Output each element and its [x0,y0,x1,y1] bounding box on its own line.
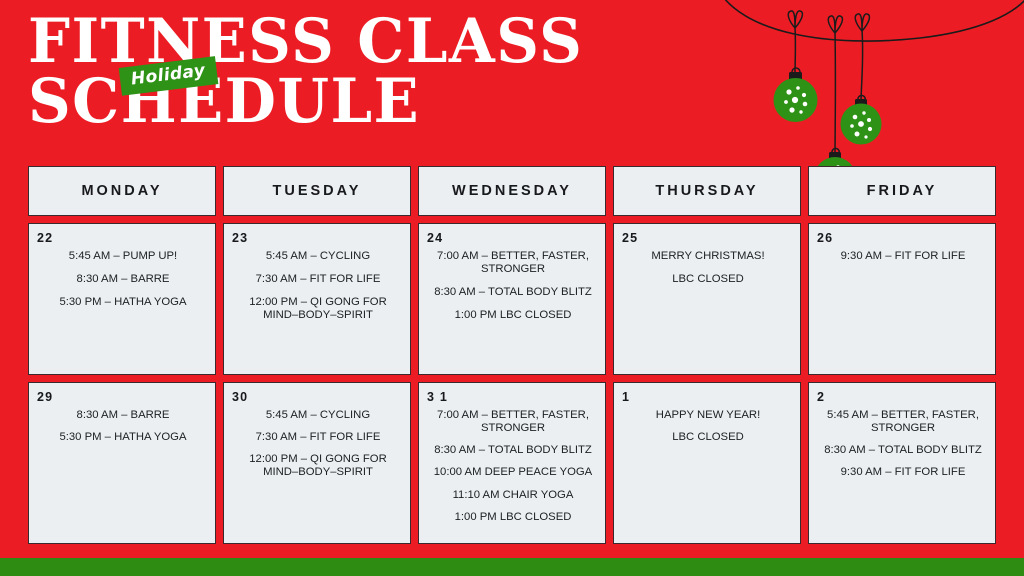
christmas-ornament-1-icon [774,68,818,122]
class-entry-list: 5:45 AM – PUMP UP! 8:30 AM – BARRE 5:30 … [37,247,209,369]
class-entry-list: 7:00 AM – BETTER, FASTER, STRONGER 8:30 … [427,406,599,538]
class-entry: 8:30 AM – BARRE [37,409,209,422]
class-entry: 8:30 AM – TOTAL BODY BLITZ [817,444,989,457]
class-entry-list: MERRY CHRISTMAS! LBC CLOSED [622,247,794,369]
footer-green-bar [0,558,1024,576]
class-entry: 12:00 PM – QI GONG FOR MIND–BODY–SPIRIT [232,296,404,323]
day-cell[interactable]: 23 5:45 AM – CYCLING 7:30 AM – FIT FOR L… [223,223,411,375]
day-header-tuesday: TUESDAY [223,166,411,216]
class-entry: HAPPY NEW YEAR! [622,409,794,422]
day-number: 1 [622,391,794,404]
class-entry: MERRY CHRISTMAS! [622,250,794,263]
class-entry: 7:00 AM – BETTER, FASTER, STRONGER [427,409,599,436]
class-entry-list: 5:45 AM – BETTER, FASTER, STRONGER 8:30 … [817,406,989,538]
day-header-label: FRIDAY [867,183,938,199]
day-cell[interactable]: 24 7:00 AM – BETTER, FASTER, STRONGER 8:… [418,223,606,375]
class-entry: 5:30 PM – HATHA YOGA [37,296,209,309]
day-number: 22 [37,232,209,245]
calendar-grid: MONDAY TUESDAY WEDNESDAY THURSDAY FRIDAY… [28,166,996,544]
day-cell[interactable]: 25 MERRY CHRISTMAS! LBC CLOSED [613,223,801,375]
calendar-week-row: 22 5:45 AM – PUMP UP! 8:30 AM – BARRE 5:… [28,223,996,375]
class-entry: 10:00 AM DEEP PEACE YOGA [427,466,599,479]
class-entry: 9:30 AM – FIT FOR LIFE [817,250,989,263]
class-entry: 5:45 AM – CYCLING [232,409,404,422]
class-entry-list: 5:45 AM – CYCLING 7:30 AM – FIT FOR LIFE… [232,247,404,369]
class-entry: 5:45 AM – PUMP UP! [37,250,209,263]
class-entry-list: HAPPY NEW YEAR! LBC CLOSED [622,406,794,538]
day-cell[interactable]: 22 5:45 AM – PUMP UP! 8:30 AM – BARRE 5:… [28,223,216,375]
day-cell[interactable]: 26 9:30 AM – FIT FOR LIFE [808,223,996,375]
class-entry: 11:10 AM CHAIR YOGA [427,489,599,502]
class-entry: 7:30 AM – FIT FOR LIFE [232,273,404,286]
day-cell[interactable]: 29 8:30 AM – BARRE 5:30 PM – HATHA YOGA [28,382,216,544]
day-number: 23 [232,232,404,245]
christmas-ornament-2-icon [841,95,882,144]
class-entry-list: 7:00 AM – BETTER, FASTER, STRONGER 8:30 … [427,247,599,369]
class-entry: 5:30 PM – HATHA YOGA [37,431,209,444]
class-entry: 9:30 AM – FIT FOR LIFE [817,466,989,479]
class-entry: 7:30 AM – FIT FOR LIFE [232,431,404,444]
class-entry-list: 8:30 AM – BARRE 5:30 PM – HATHA YOGA [37,406,209,538]
class-entry: 5:45 AM – BETTER, FASTER, STRONGER [817,409,989,436]
class-entry: 1:00 PM LBC CLOSED [427,309,599,322]
ornament-cord-3 [861,30,863,104]
day-header-thursday: THURSDAY [613,166,801,216]
bow-knot-1 [788,11,802,28]
class-entry-list: 9:30 AM – FIT FOR LIFE [817,247,989,369]
class-entry: LBC CLOSED [622,273,794,286]
class-entry: 5:45 AM – CYCLING [232,250,404,263]
day-header-label: MONDAY [81,183,162,199]
day-header-label: THURSDAY [655,183,758,199]
day-number: 25 [622,232,794,245]
page-title-line-2: SCHEDULE [28,74,583,130]
bow-knot-3 [855,14,869,31]
page-header: FITNESS CLASS SCHEDULE [28,14,601,130]
day-header-wednesday: WEDNESDAY [418,166,606,216]
day-number: 29 [37,391,209,404]
class-entry: 1:00 PM LBC CLOSED [427,511,599,524]
day-cell[interactable]: 2 5:45 AM – BETTER, FASTER, STRONGER 8:3… [808,382,996,544]
class-entry: 8:30 AM – TOTAL BODY BLITZ [427,286,599,299]
calendar-week-row: 29 8:30 AM – BARRE 5:30 PM – HATHA YOGA … [28,382,996,544]
class-entry: LBC CLOSED [622,431,794,444]
day-header-label: WEDNESDAY [452,183,572,199]
day-header-monday: MONDAY [28,166,216,216]
day-number: 24 [427,232,599,245]
day-cell[interactable]: 30 5:45 AM – CYCLING 7:30 AM – FIT FOR L… [223,382,411,544]
class-entry: 8:30 AM – TOTAL BODY BLITZ [427,444,599,457]
day-header-friday: FRIDAY [808,166,996,216]
class-entry-list: 5:45 AM – CYCLING 7:30 AM – FIT FOR LIFE… [232,406,404,538]
day-number: 3 1 [427,391,599,404]
day-cell[interactable]: 1 HAPPY NEW YEAR! LBC CLOSED [613,382,801,544]
class-entry: 8:30 AM – BARRE [37,273,209,286]
day-number: 30 [232,391,404,404]
hanging-string-icon [716,0,1024,41]
day-header-label: TUESDAY [273,183,362,199]
calendar-header-row: MONDAY TUESDAY WEDNESDAY THURSDAY FRIDAY [28,166,996,216]
bow-knot-2 [828,16,842,33]
day-number: 2 [817,391,989,404]
day-cell[interactable]: 3 1 7:00 AM – BETTER, FASTER, STRONGER 8… [418,382,606,544]
page-title-line-1: FITNESS CLASS [28,14,583,70]
class-entry: 7:00 AM – BETTER, FASTER, STRONGER [427,250,599,277]
day-number: 26 [817,232,989,245]
class-entry: 12:00 PM – QI GONG FOR MIND–BODY–SPIRIT [232,453,404,480]
